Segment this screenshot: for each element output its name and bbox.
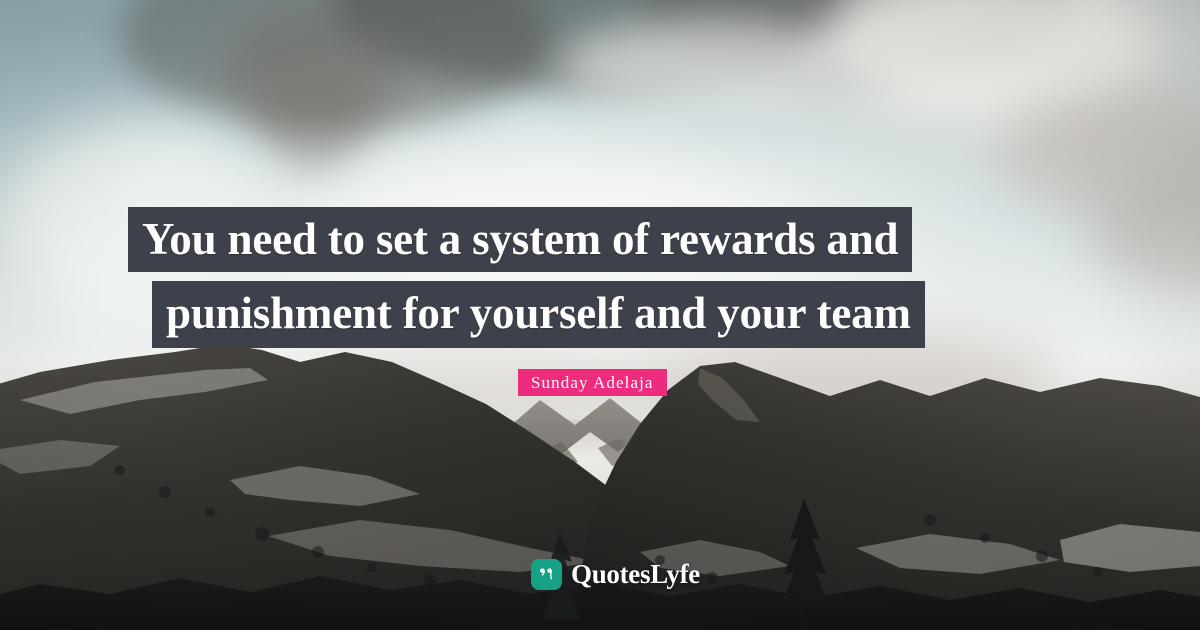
- quote-card: You need to set a system of rewards and …: [0, 0, 1200, 630]
- author-badge: Sunday Adelaja: [518, 369, 667, 396]
- quote-line-2: punishment for yourself and your team: [152, 281, 925, 348]
- quote-mark-icon: [531, 559, 562, 590]
- logo-text: QuotesLyfe: [571, 559, 700, 590]
- quoteslyfe-logo[interactable]: QuotesLyfe: [531, 556, 700, 592]
- quote-line-1: You need to set a system of rewards and: [128, 207, 912, 272]
